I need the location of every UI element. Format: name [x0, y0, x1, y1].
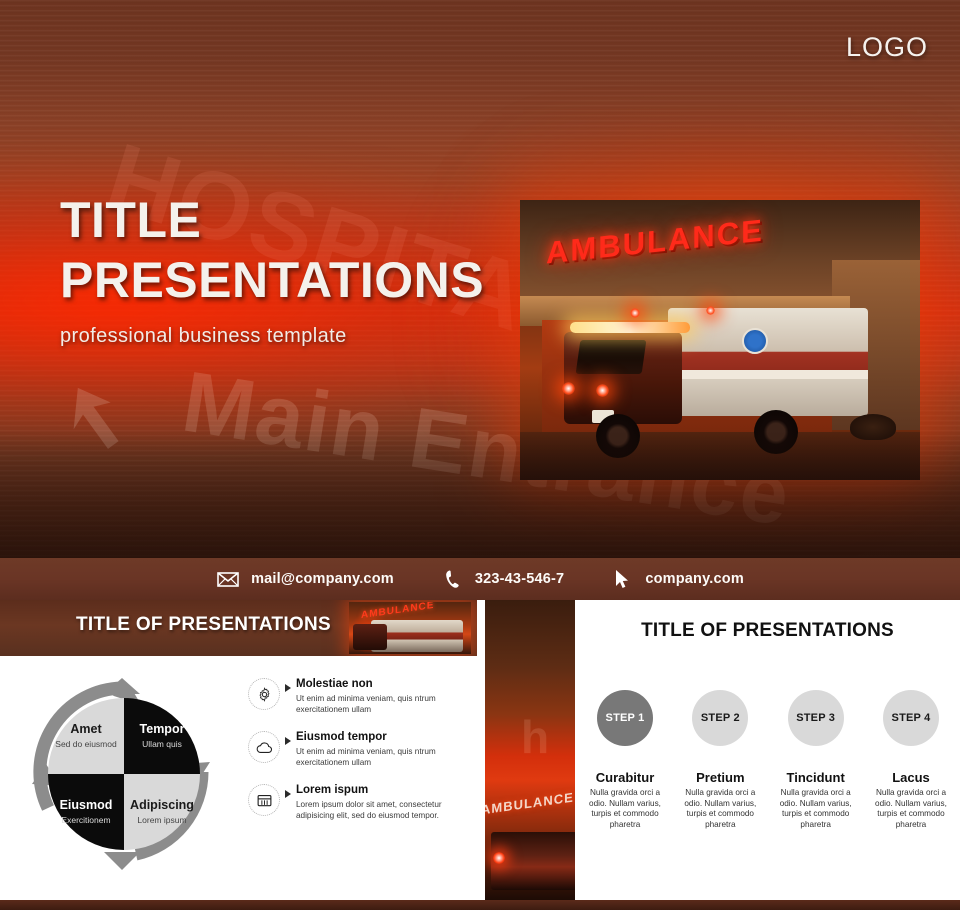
steps-row: STEP 1 Curabitur Nulla gravida orci a od…	[583, 690, 953, 830]
step-badge[interactable]: STEP 1	[597, 690, 653, 746]
cycle-quadrant-title: Amet	[70, 722, 101, 736]
left-slide-header-image: AMBULANCE	[349, 602, 471, 654]
contact-email-label: mail@company.com	[251, 571, 394, 587]
hero-bottom-shade	[0, 430, 960, 558]
cycle-quadrant-title: Eiusmod	[60, 798, 113, 812]
cloud-icon	[248, 731, 280, 763]
gear-icon	[248, 678, 280, 710]
list-item-heading: Eiusmod tempor	[296, 731, 387, 743]
list-item-heading: Lorem ispum	[296, 784, 368, 796]
cursor-arrow-icon	[610, 569, 634, 589]
header-image-sign: AMBULANCE	[361, 602, 434, 621]
step-body: Nulla gravida orci a odio. Nullam varius…	[774, 788, 858, 830]
step-badge[interactable]: STEP 2	[692, 690, 748, 746]
list-item[interactable]: Lorem ispum Lorem ipsum dolor sit amet, …	[248, 780, 466, 821]
hero-title-line-2: PRESENTATIONS	[60, 250, 484, 310]
cycle-quadrant-subtitle: Exercitionem	[61, 815, 110, 826]
step-item[interactable]: STEP 2 Pretium Nulla gravida orci a odio…	[678, 690, 762, 830]
cycle-diagram: Amet Sed do eiusmod Tempor Ullam quis Ei…	[26, 676, 218, 872]
right-slide-image-strip: h AMBULANCE	[485, 600, 575, 900]
contact-website[interactable]: company.com	[610, 569, 744, 589]
step-body: Nulla gravida orci a odio. Nullam varius…	[869, 788, 953, 830]
footer-bar	[0, 900, 960, 910]
step-badge[interactable]: STEP 4	[883, 690, 939, 746]
contact-bar: mail@company.com 323-43-546-7 company.co…	[0, 558, 960, 600]
bullet-list: Molestiae non Ut enim ad minima veniam, …	[248, 674, 466, 833]
contact-phone-label: 323-43-546-7	[475, 571, 564, 587]
left-slide-header: TITLE OF PRESENTATIONS AMBULANCE	[0, 600, 477, 656]
phone-icon	[440, 569, 464, 589]
slide-preview-page: HOSPITAL Main Entrance AMBULANCE	[0, 0, 960, 910]
slide-thumbnail-right[interactable]: h AMBULANCE TITLE OF PRESENTATIONS STEP …	[483, 600, 960, 900]
list-item-body: Ut enim ad minima veniam, quis ntrum exe…	[296, 746, 466, 768]
cycle-quadrant-title: Tempor	[140, 722, 185, 736]
contact-website-label: company.com	[645, 571, 744, 587]
step-heading: Lacus	[869, 770, 953, 785]
hero-slide: HOSPITAL Main Entrance AMBULANCE	[0, 0, 960, 558]
logo-placeholder: LOGO	[846, 32, 928, 63]
step-item[interactable]: STEP 3 Tincidunt Nulla gravida orci a od…	[774, 690, 858, 830]
step-item[interactable]: STEP 4 Lacus Nulla gravida orci a odio. …	[869, 690, 953, 830]
list-item-body: Ut enim ad minima veniam, quis ntrum exe…	[296, 693, 466, 715]
step-badge[interactable]: STEP 3	[788, 690, 844, 746]
step-heading: Pretium	[678, 770, 762, 785]
step-heading: Tincidunt	[774, 770, 858, 785]
hero-title: TITLE PRESENTATIONS	[60, 190, 484, 310]
step-heading: Curabitur	[583, 770, 667, 785]
cycle-quadrant-subtitle: Sed do eiusmod	[55, 739, 116, 750]
list-item[interactable]: Eiusmod tempor Ut enim ad minima veniam,…	[248, 727, 466, 768]
calendar-icon	[248, 784, 280, 816]
slide-thumbnail-left[interactable]: TITLE OF PRESENTATIONS AMBULANCE	[0, 600, 480, 900]
contact-email[interactable]: mail@company.com	[216, 569, 394, 589]
triangle-right-icon	[280, 674, 296, 692]
step-body: Nulla gravida orci a odio. Nullam varius…	[583, 788, 667, 830]
hero-title-line-1: TITLE	[60, 190, 484, 250]
triangle-right-icon	[280, 727, 296, 745]
right-slide-title: TITLE OF PRESENTATIONS	[575, 620, 960, 642]
list-item[interactable]: Molestiae non Ut enim ad minima veniam, …	[248, 674, 466, 715]
strip-ambulance-sign: AMBULANCE	[485, 789, 574, 817]
triangle-right-icon	[280, 780, 296, 798]
cycle-quadrant-subtitle: Lorem ipsum	[137, 815, 186, 826]
cycle-quadrant-title: Adipiscing	[130, 798, 194, 812]
hero-subtitle: professional business template	[60, 325, 347, 348]
list-item-body: Lorem ipsum dolor sit amet, consectetur …	[296, 799, 466, 821]
cycle-quadrant-subtitle: Ullam quis	[142, 739, 182, 750]
slide-thumbnails-row: TITLE OF PRESENTATIONS AMBULANCE	[0, 600, 960, 900]
step-body: Nulla gravida orci a odio. Nullam varius…	[678, 788, 762, 830]
step-item[interactable]: STEP 1 Curabitur Nulla gravida orci a od…	[583, 690, 667, 830]
mail-icon	[216, 569, 240, 589]
contact-phone[interactable]: 323-43-546-7	[440, 569, 564, 589]
list-item-heading: Molestiae non	[296, 678, 373, 690]
